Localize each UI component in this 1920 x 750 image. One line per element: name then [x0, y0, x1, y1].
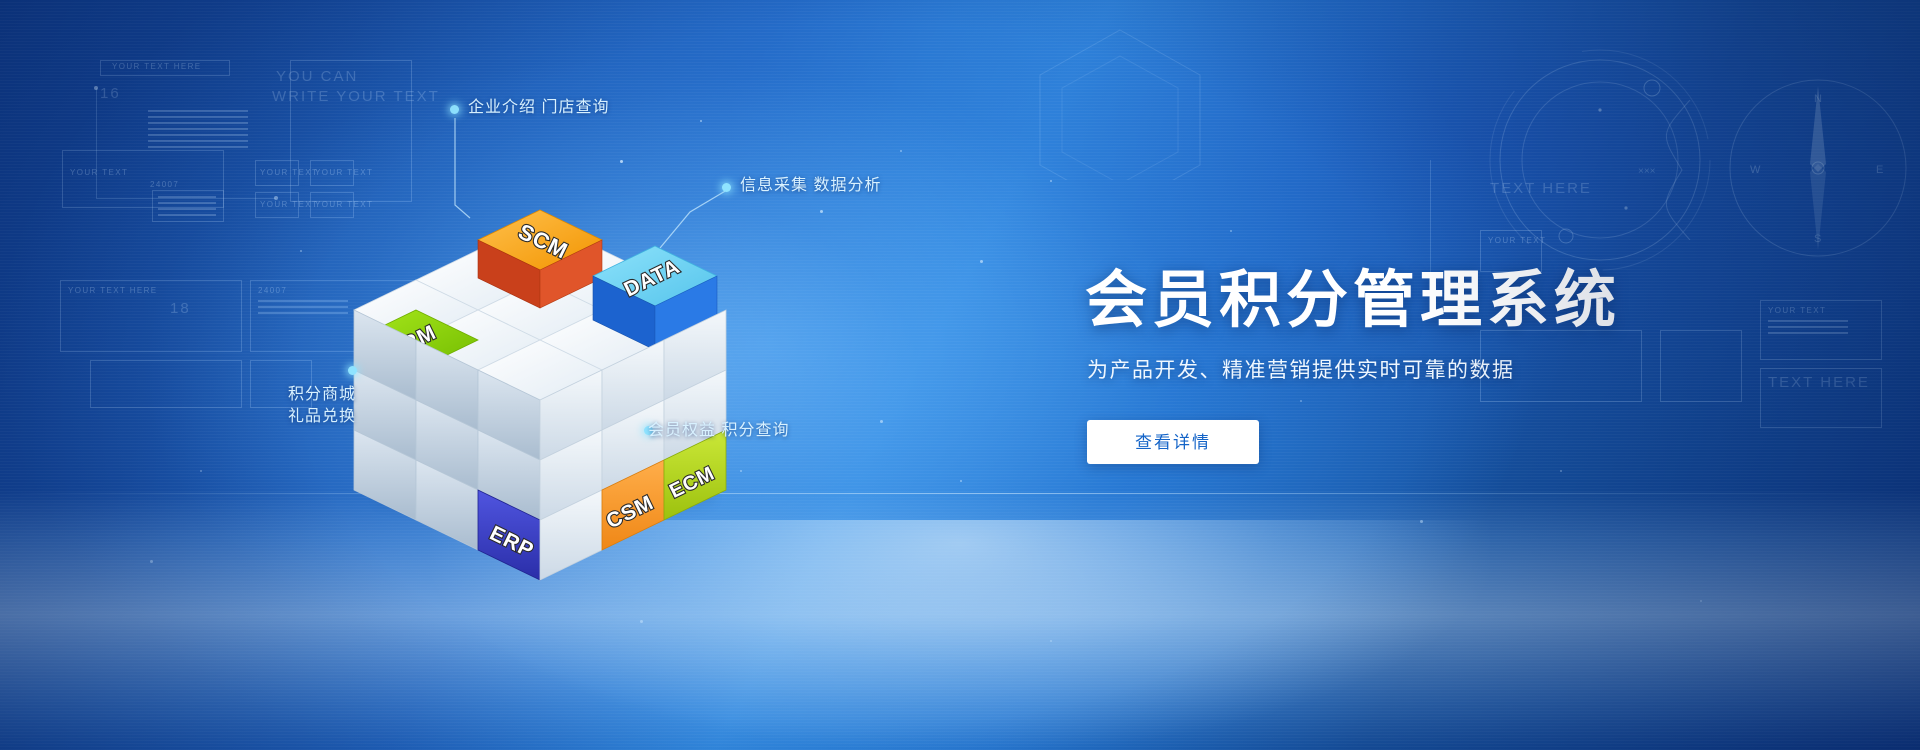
hud-label: YOUR TEXT — [1488, 236, 1546, 245]
page-subtitle: 为产品开发、精准营销提供实时可靠的数据 — [1087, 354, 1845, 384]
cube-svg: CRM SCM DATA — [355, 150, 775, 530]
hud-box — [255, 192, 299, 218]
hud-box — [60, 280, 242, 352]
hud-fake-paragraph — [148, 110, 248, 148]
callout-left-bottom-line1: 积分商城 — [288, 384, 356, 406]
hud-fake-paragraph — [258, 300, 348, 314]
hud-number-16: 16 — [100, 85, 121, 102]
hud-box — [100, 60, 230, 76]
hud-label: YOUR TEXT — [260, 168, 318, 177]
hud-label: YOU CAN — [276, 68, 358, 85]
hud-box — [310, 192, 354, 218]
hud-box — [152, 190, 224, 222]
hud-radar-icon — [1470, 40, 1730, 290]
callout-right-top-label: 信息采集 数据分析 — [740, 175, 881, 197]
hud-label: 24007 — [258, 286, 287, 295]
view-details-button[interactable]: 查看详情 — [1087, 420, 1259, 464]
hud-dot — [94, 86, 98, 90]
svg-text:N: N — [1814, 93, 1822, 105]
hud-box — [310, 160, 354, 186]
hud-number-18: 18 — [170, 300, 191, 317]
hud-fake-paragraph — [158, 196, 216, 216]
hud-label: YOUR TEXT HERE — [112, 62, 202, 71]
hud-label: YOUR TEXT — [70, 168, 128, 177]
hud-box — [90, 360, 242, 408]
rubiks-cube-illustration: CRM SCM DATA — [355, 150, 775, 510]
floor-horizon-line — [0, 493, 1920, 494]
callout-left-bottom-text: 积分商城 礼品兑换 — [288, 384, 356, 428]
hud-divider — [1430, 160, 1431, 280]
callout-top-label: 企业介绍 门店查询 — [468, 97, 609, 119]
hud-divider — [96, 88, 97, 198]
callout-dot-right-top — [722, 183, 731, 192]
hud-compass-icon: W E N S — [1700, 60, 1920, 280]
hud-label: 24007 — [150, 180, 179, 189]
hero-banner: YOUR TEXT HERE 16 YOU CAN WRITE YOUR TEX… — [0, 0, 1920, 750]
hud-dot — [274, 196, 278, 200]
svg-text:E: E — [1876, 164, 1883, 176]
hero-content: 会员积分管理系统 为产品开发、精准营销提供实时可靠的数据 查看详情 — [1085, 270, 1845, 464]
floor-reflection — [0, 490, 1920, 750]
callout-dot-top — [450, 105, 459, 114]
callout-left-bottom-line2: 礼品兑换 — [288, 406, 356, 428]
svg-text:S: S — [1814, 233, 1821, 245]
svg-text:×××: ××× — [1638, 166, 1656, 177]
hud-label: TEXT HERE — [1490, 180, 1592, 197]
hud-label: WRITE YOUR TEXT — [272, 88, 440, 105]
hud-divider — [96, 198, 276, 199]
callout-bottom-right-label: 会员权益 积分查询 — [648, 420, 789, 442]
hud-label: YOUR TEXT — [260, 200, 318, 209]
callout-dot-left-bottom — [348, 366, 357, 375]
hud-box — [62, 150, 224, 208]
page-title: 会员积分管理系统 — [1085, 270, 1845, 332]
hud-box — [255, 160, 299, 186]
hud-label: YOUR TEXT HERE — [68, 286, 158, 295]
svg-text:W: W — [1750, 164, 1761, 176]
hud-hexagon-icon — [1010, 20, 1230, 180]
hud-bracket-icon: ××× — [1630, 100, 1720, 240]
